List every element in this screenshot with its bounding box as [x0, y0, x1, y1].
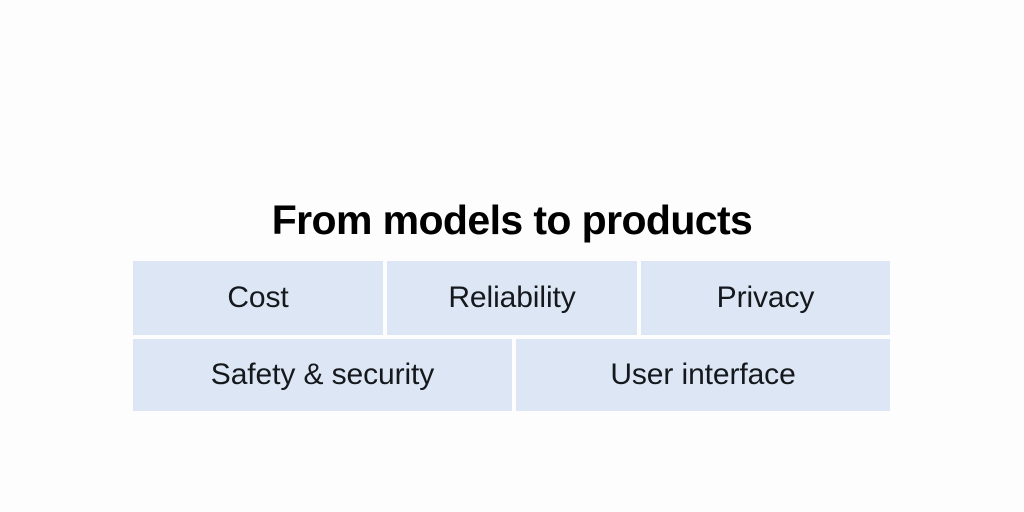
matrix-cell-privacy[interactable]: Privacy: [641, 261, 890, 335]
table-row: Cost Reliability Privacy: [133, 261, 890, 335]
matrix-cell-label: Safety & security: [211, 358, 434, 392]
matrix-cell-reliability[interactable]: Reliability: [387, 261, 637, 335]
matrix-cell-label: User interface: [610, 358, 795, 392]
matrix-cell-cost[interactable]: Cost: [133, 261, 383, 335]
matrix-cell-label: Cost: [227, 281, 288, 315]
attribute-matrix: Cost Reliability Privacy Safety & securi…: [133, 261, 890, 411]
slide-canvas: From models to products Cost Reliability…: [0, 0, 1024, 512]
matrix-cell-label: Reliability: [448, 281, 575, 315]
matrix-cell-label: Privacy: [717, 281, 815, 315]
page-title: From models to products: [0, 196, 1024, 244]
matrix-cell-user-interface[interactable]: User interface: [516, 339, 890, 411]
matrix-cell-safety-security[interactable]: Safety & security: [133, 339, 512, 411]
table-row: Safety & security User interface: [133, 339, 890, 411]
